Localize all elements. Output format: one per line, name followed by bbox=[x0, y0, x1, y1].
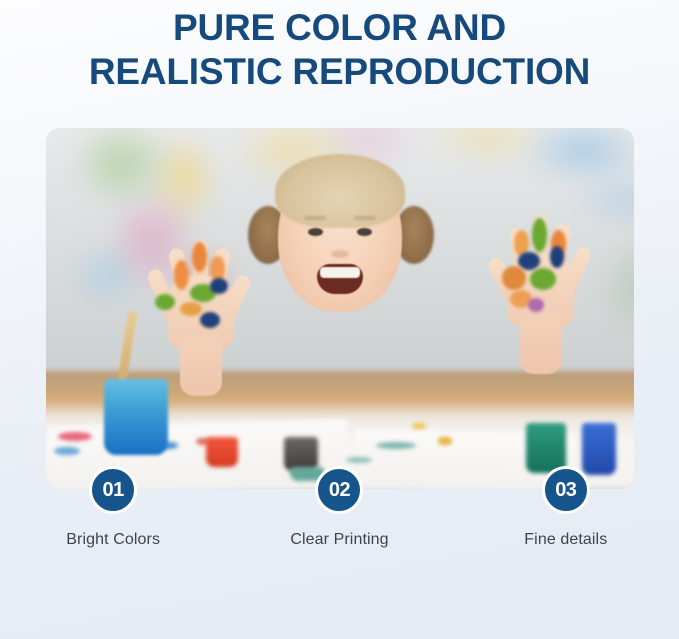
feature-label-01: Bright Colors bbox=[66, 531, 160, 549]
paint-blob bbox=[200, 312, 220, 328]
promo-page: PURE COLOR AND REALISTIC REPRODUCTION bbox=[0, 0, 679, 639]
painted-hand-right bbox=[494, 194, 590, 344]
eye-right bbox=[357, 228, 372, 236]
paint-blob bbox=[532, 218, 547, 252]
paint-blob bbox=[550, 246, 564, 268]
paint-blob bbox=[180, 302, 202, 316]
hair bbox=[275, 154, 405, 228]
paint-blob bbox=[210, 278, 228, 294]
paint-smudge bbox=[54, 447, 80, 455]
paint-blob bbox=[174, 260, 189, 290]
painted-hand-left bbox=[154, 216, 250, 366]
feature-label-02: Clear Printing bbox=[290, 531, 388, 549]
page-title-line-1: PURE COLOR AND bbox=[0, 6, 679, 50]
eye-left bbox=[308, 228, 323, 236]
eyebrow-right bbox=[354, 216, 376, 220]
feature-label-03: Fine details bbox=[524, 531, 607, 549]
paint-smudge bbox=[346, 457, 372, 463]
forearm bbox=[520, 314, 562, 374]
feature-item-02: 02 Clear Printing bbox=[226, 466, 452, 549]
paint-blob bbox=[518, 252, 540, 270]
page-title-line-2: REALISTIC REPRODUCTION bbox=[0, 50, 679, 94]
paint-blob bbox=[530, 268, 556, 290]
paint-blob bbox=[502, 266, 526, 290]
eyebrow-left bbox=[304, 216, 326, 220]
feature-item-03: 03 Fine details bbox=[453, 466, 679, 549]
feature-badge-02: 02 bbox=[315, 466, 363, 514]
forearm bbox=[180, 336, 222, 396]
feature-item-01: 01 Bright Colors bbox=[0, 466, 226, 549]
teeth bbox=[320, 267, 360, 278]
orange-marker bbox=[438, 437, 452, 445]
red-paint-pot bbox=[206, 437, 238, 467]
feature-badge-03: 03 bbox=[542, 466, 590, 514]
paint-blob bbox=[155, 294, 175, 310]
page-title: PURE COLOR AND REALISTIC REPRODUCTION bbox=[0, 0, 679, 94]
paint-blob bbox=[192, 242, 207, 272]
paint-blob bbox=[528, 298, 544, 312]
nose bbox=[331, 250, 349, 258]
paint-smudge bbox=[58, 432, 92, 441]
mouth bbox=[317, 264, 363, 294]
feature-list: 01 Bright Colors 02 Clear Printing 03 Fi… bbox=[0, 466, 679, 549]
feature-badge-01: 01 bbox=[89, 466, 137, 514]
hero-photo-scene bbox=[46, 128, 634, 489]
paint-smudge bbox=[412, 423, 426, 429]
blue-paint-cup bbox=[104, 379, 168, 455]
hero-photo bbox=[46, 128, 634, 489]
paint-smudge bbox=[376, 442, 416, 449]
